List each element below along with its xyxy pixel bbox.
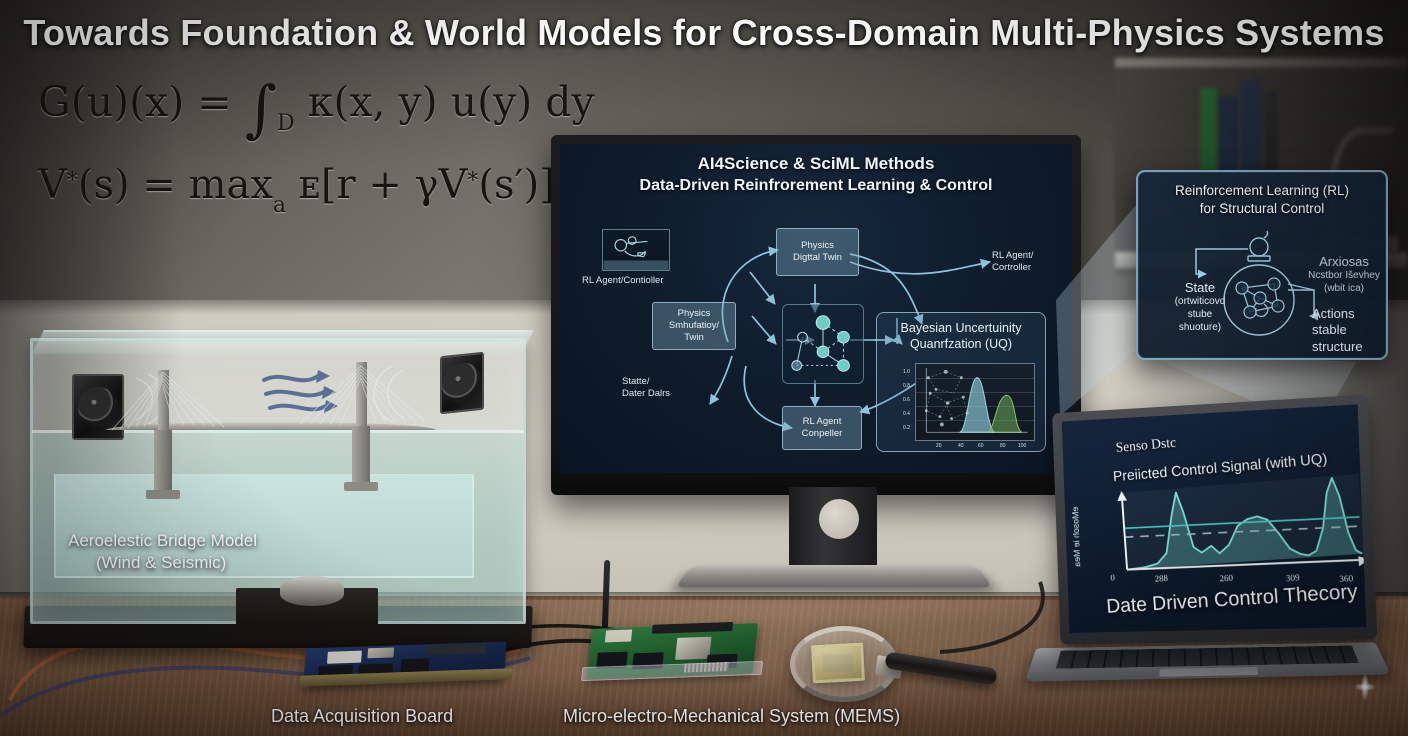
tank-caption: Aeroelestic Bridge Model (Wind & Seismic…	[68, 530, 488, 575]
rl-state-label: State (ortwiticovd stube shuoture)	[1158, 280, 1242, 334]
graph-network-icon	[783, 305, 863, 383]
bellman-tail: (s′)]	[478, 162, 554, 208]
node-physics-digital-twin-line1: Physics	[801, 240, 834, 252]
rl-actions-line2: stable	[1312, 322, 1390, 338]
rl-state-line4: shuoture)	[1158, 322, 1242, 335]
monitor-stand-cable-hole	[819, 499, 859, 539]
bridge-pier-left	[154, 430, 172, 492]
rl-agent-controller-right-label: RL Agent/ Cortroller	[992, 250, 1033, 274]
node-physics-simulation-twin[interactable]: Physics Smhufatioy/ Twin	[652, 302, 736, 350]
rl-garbled-line3: (wbit ica)	[1302, 283, 1386, 296]
laptop-keyboard[interactable]	[1056, 646, 1359, 669]
wind-fan-right-icon	[440, 352, 484, 415]
robot-sketch-icon	[603, 230, 669, 270]
page-title: Towards Foundation & World Models for Cr…	[0, 12, 1408, 54]
daq-board-label: Data Acquisition Board	[271, 706, 453, 727]
laptop-xtick-0: 0	[1110, 572, 1115, 582]
rl-garbled-label: Arxiosas Ncstbor Iševhey (wbit ica)	[1302, 254, 1386, 296]
uq-xtick-2: 60	[978, 443, 984, 449]
node-physics-digital-twin-line2: Digttal Twin	[793, 252, 842, 264]
uq-ytick-3: 0.4	[903, 411, 910, 417]
rl-agent-controller-left-label: RL Agent/Contioller	[582, 275, 664, 287]
state-data-label: Statte/ Dater Dalrs	[622, 376, 670, 400]
bridge-pier-foot-left	[146, 490, 180, 499]
laptop-xtick-3: 309	[1285, 572, 1299, 583]
uq-xtick-1: 40	[958, 443, 964, 449]
laptop-base	[1025, 642, 1391, 681]
laptop-trackpad[interactable]	[1159, 667, 1258, 677]
wind-fan-left-icon	[72, 374, 124, 440]
rl-agent-right-line2: Cortroller	[992, 262, 1033, 274]
uq-ytick-4: 0.2	[903, 425, 910, 431]
scene-root: Towards Foundation & World Models for Cr…	[0, 0, 1408, 736]
bellman-args: (s) = max	[78, 162, 273, 208]
bellman-v: V	[38, 162, 67, 208]
uq-ytick-0: 1.0	[903, 369, 910, 375]
laptop: Senso Dstc Preiicted Control Signal (wit…	[1022, 398, 1392, 698]
bridge-pylon-left	[158, 370, 169, 436]
shaker-actuator	[280, 576, 344, 606]
laptop-control-signal-chart: 0 288 260 309 360	[1106, 471, 1366, 592]
uq-ytick-2: 0.6	[903, 397, 910, 403]
laptop-chart-ylabel: eMosoh ie Mea	[1071, 507, 1083, 567]
bayesian-uq-line2: Quanrfzation (UQ)	[910, 337, 1012, 353]
uq-xtick-0: 20	[936, 443, 942, 449]
node-physics-digital-twin[interactable]: Physics Digttal Twin	[776, 228, 859, 276]
monitor-screen-subtitle: Data-Driven Reinfrorement Learning & Con…	[560, 177, 1072, 195]
rl-garbled-line1: Arxiosas	[1302, 254, 1386, 270]
uq-chart-curves	[916, 364, 1034, 440]
state-data-line1: Statte/	[622, 376, 670, 388]
bellman-body-star: *	[467, 169, 478, 194]
rl-state-line2: (ortwiticovd	[1158, 296, 1242, 309]
mems-label: Micro-electro-Mechanical System (MEMS)	[563, 706, 900, 727]
node-physics-sim-line2: Smhufatioy/	[669, 320, 719, 332]
tank-top-face	[32, 330, 534, 354]
bellman-star: *	[67, 169, 78, 194]
bellman-body: [r + γV	[321, 162, 467, 208]
integral-icon: ∫	[245, 72, 277, 145]
node-rl-agent-controller[interactable]: RL Agent Conpeller	[782, 406, 862, 450]
laptop-header-text: Senso Dstc	[1115, 436, 1176, 457]
desktop-monitor: AI4Science & SciML Methods Data-Driven R…	[551, 135, 1081, 495]
rl-actions-line3: structure	[1312, 339, 1390, 355]
bayesian-uq-line1: Bayesian Uncertuinity	[901, 321, 1022, 337]
rl-state-line3: stube	[1158, 309, 1242, 322]
node-rl-agent-line1: RL Agent	[803, 416, 842, 428]
state-data-line2: Dater Dalrs	[622, 388, 670, 400]
node-physics-sim-line1: Physics	[678, 308, 711, 320]
aeroelastic-bridge-tank: Aeroelestic Bridge Model (Wind & Seismic…	[8, 330, 548, 670]
rl-agent-right-line1: RL Agent/	[992, 250, 1033, 262]
control-signal-plot	[1106, 471, 1366, 592]
rl-panel-title-line1: Reinforcement Learning (RL)	[1138, 182, 1386, 200]
laptop-xtick-1: 288	[1154, 573, 1168, 584]
monitor-screen[interactable]: AI4Science & SciML Methods Data-Driven R…	[560, 144, 1072, 473]
monitor-screen-title: AI4Science & SciML Methods	[560, 154, 1072, 174]
sparkle-icon	[1348, 666, 1382, 708]
rl-garbled-line2: Ncstbor Iševhey	[1302, 270, 1386, 283]
bridge-pier-right	[352, 426, 370, 484]
equations-overlay: G(u)(x) = ∫D κ(x, y) u(y) dy V*(s) = max…	[38, 78, 558, 218]
bellman-max-sub: a	[273, 193, 286, 218]
bridge-pylon-right	[356, 362, 367, 432]
tank-caption-line2: (Wind & Seismic)	[68, 552, 488, 574]
rl-state-line1: State	[1158, 280, 1242, 296]
rl-panel-title: Reinforcement Learning (RL) for Structur…	[1138, 182, 1386, 217]
rl-actions-line1: Actions	[1312, 306, 1390, 322]
uq-xtick-3: 80	[1000, 443, 1006, 449]
laptop-xtick-2: 260	[1219, 573, 1233, 584]
operator-lhs: G(u)(x) =	[38, 78, 232, 126]
expectation-icon: ᴇ	[299, 162, 321, 208]
laptop-screen[interactable]: Senso Dstc Preiicted Control Signal (wit…	[1062, 404, 1367, 633]
operator-rhs: κ(x, y) u(y) dy	[308, 78, 595, 126]
node-physics-sim-line3: Twin	[684, 332, 704, 344]
node-rl-agent-line2: Conpeller	[802, 428, 843, 440]
graph-neural-network-box	[782, 304, 864, 384]
integral-domain: D	[277, 111, 295, 136]
uq-distribution-chart: 20 40 60 80 100	[915, 363, 1035, 441]
monitor-stand-base	[675, 566, 993, 587]
rl-inset-panel[interactable]: Reinforcement Learning (RL) for Structur…	[1136, 170, 1388, 360]
rl-agent-thumbnail	[602, 229, 670, 271]
laptop-lid: Senso Dstc Preiicted Control Signal (wit…	[1052, 394, 1377, 644]
tank-caption-line1: Aeroelestic Bridge Model	[68, 530, 488, 552]
equation-bellman: V*(s) = maxa ᴇ[r + γV*(s′)]	[38, 162, 558, 218]
bridge-pier-foot-right	[344, 482, 378, 491]
equation-neural-operator: G(u)(x) = ∫D κ(x, y) u(y) dy	[38, 78, 558, 136]
rl-panel-title-line2: for Structural Control	[1138, 200, 1386, 218]
uq-ytick-1: 0.8	[903, 383, 910, 389]
node-bayesian-uq[interactable]: Bayesian Uncertuinity Quanrfzation (UQ)	[876, 312, 1046, 452]
rl-actions-label: Actions stable structure	[1312, 306, 1390, 355]
